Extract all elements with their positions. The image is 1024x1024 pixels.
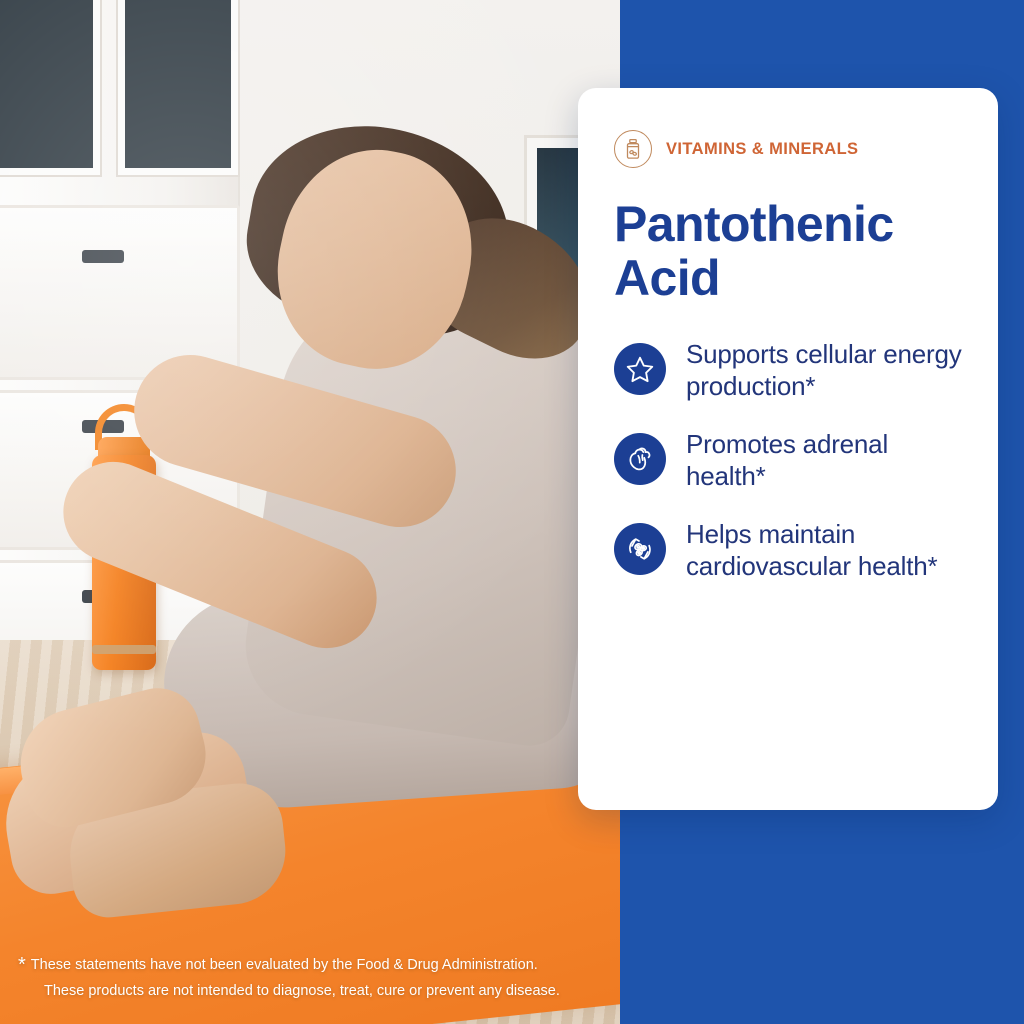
disclaimer-line-1: *These statements have not been evaluate… xyxy=(18,953,610,978)
product-info-card: VITAMINS & MINERALS Pantothenic Acid Sup… xyxy=(578,88,998,810)
benefit-text: Promotes adrenal health* xyxy=(686,429,964,493)
benefit-item: Promotes adrenal health* xyxy=(614,429,964,493)
anatomical-heart-icon xyxy=(614,433,666,485)
benefit-item: Supports cellular energy production* xyxy=(614,339,964,403)
lifestyle-photo: *These statements have not been evaluate… xyxy=(0,0,620,1024)
category-badge-label: VITAMINS & MINERALS xyxy=(666,140,858,159)
page-title: Pantothenic Acid xyxy=(614,198,964,305)
drawer-handle-top xyxy=(82,250,124,263)
category-badge: VITAMINS & MINERALS xyxy=(614,130,964,168)
benefits-list: Supports cellular energy production* Pro… xyxy=(614,339,964,583)
infographic-root: *These statements have not been evaluate… xyxy=(0,0,1024,1024)
benefit-item: Helps maintain cardiovascular health* xyxy=(614,519,964,583)
benefit-text: Supports cellular energy production* xyxy=(686,339,964,403)
cabinet-drawer-top xyxy=(0,205,240,380)
disclaimer-asterisk: * xyxy=(18,954,26,976)
cabinet-glass-pane-right xyxy=(118,0,238,175)
water-bottle-base-ring xyxy=(92,645,156,654)
benefit-text: Helps maintain cardiovascular health* xyxy=(686,519,964,583)
circulation-cells-icon xyxy=(614,523,666,575)
fda-disclaimer: *These statements have not been evaluate… xyxy=(18,953,610,1004)
cabinet-glass-pane-left xyxy=(0,0,100,175)
supplement-bottle-icon xyxy=(614,130,652,168)
star-icon xyxy=(614,343,666,395)
disclaimer-line-2: These products are not intended to diagn… xyxy=(18,979,610,1004)
disclaimer-line-1-text: These statements have not been evaluated… xyxy=(31,957,538,973)
